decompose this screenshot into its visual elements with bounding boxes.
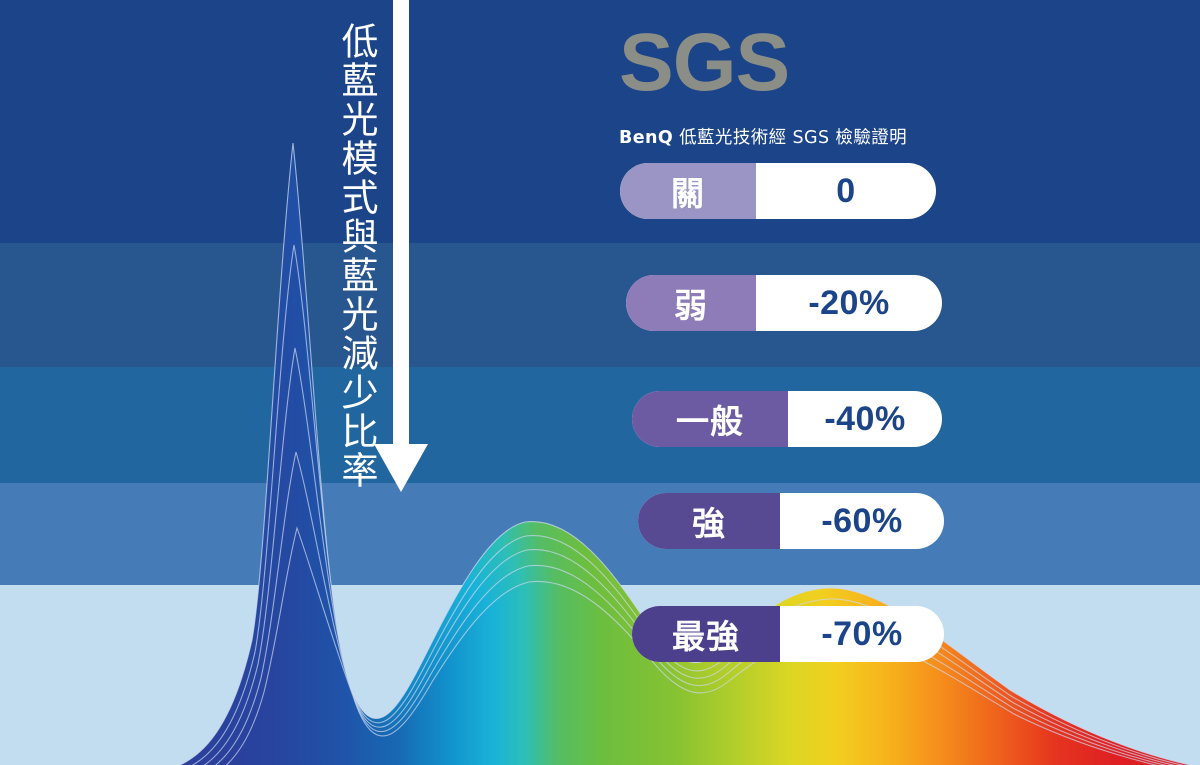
infographic-canvas: 低藍光模式與藍光減少比率 SGS BenQ 低藍光技術經 SGS 檢驗證明 關 … [0,0,1200,765]
level-pill-high[interactable]: 強 -60% [638,493,944,549]
level-label: 關 [620,163,756,219]
sgs-logo: SGS [619,22,789,104]
sgs-caption-brand: BenQ [619,128,673,148]
sgs-caption-rest: 低藍光技術經 SGS 檢驗證明 [673,128,907,148]
level-pill-off[interactable]: 關 0 [620,163,936,219]
level-value: -70% [780,606,944,662]
level-label: 弱 [626,275,756,331]
level-label: 強 [638,493,780,549]
level-pill-highest[interactable]: 最強 -70% [632,606,944,662]
level-label: 最強 [632,606,780,662]
vertical-headline: 低藍光模式與藍光減少比率 [328,22,376,490]
level-pill-medium[interactable]: 一般 -40% [632,391,942,447]
spectrum-chart [0,0,1200,765]
level-value: -60% [780,493,944,549]
level-value: -40% [788,391,942,447]
sgs-caption: BenQ 低藍光技術經 SGS 檢驗證明 [619,124,907,149]
level-label: 一般 [632,391,788,447]
arrow-down-icon [374,0,430,496]
level-value: 0 [756,163,936,219]
level-pill-low[interactable]: 弱 -20% [626,275,942,331]
level-value: -20% [756,275,942,331]
